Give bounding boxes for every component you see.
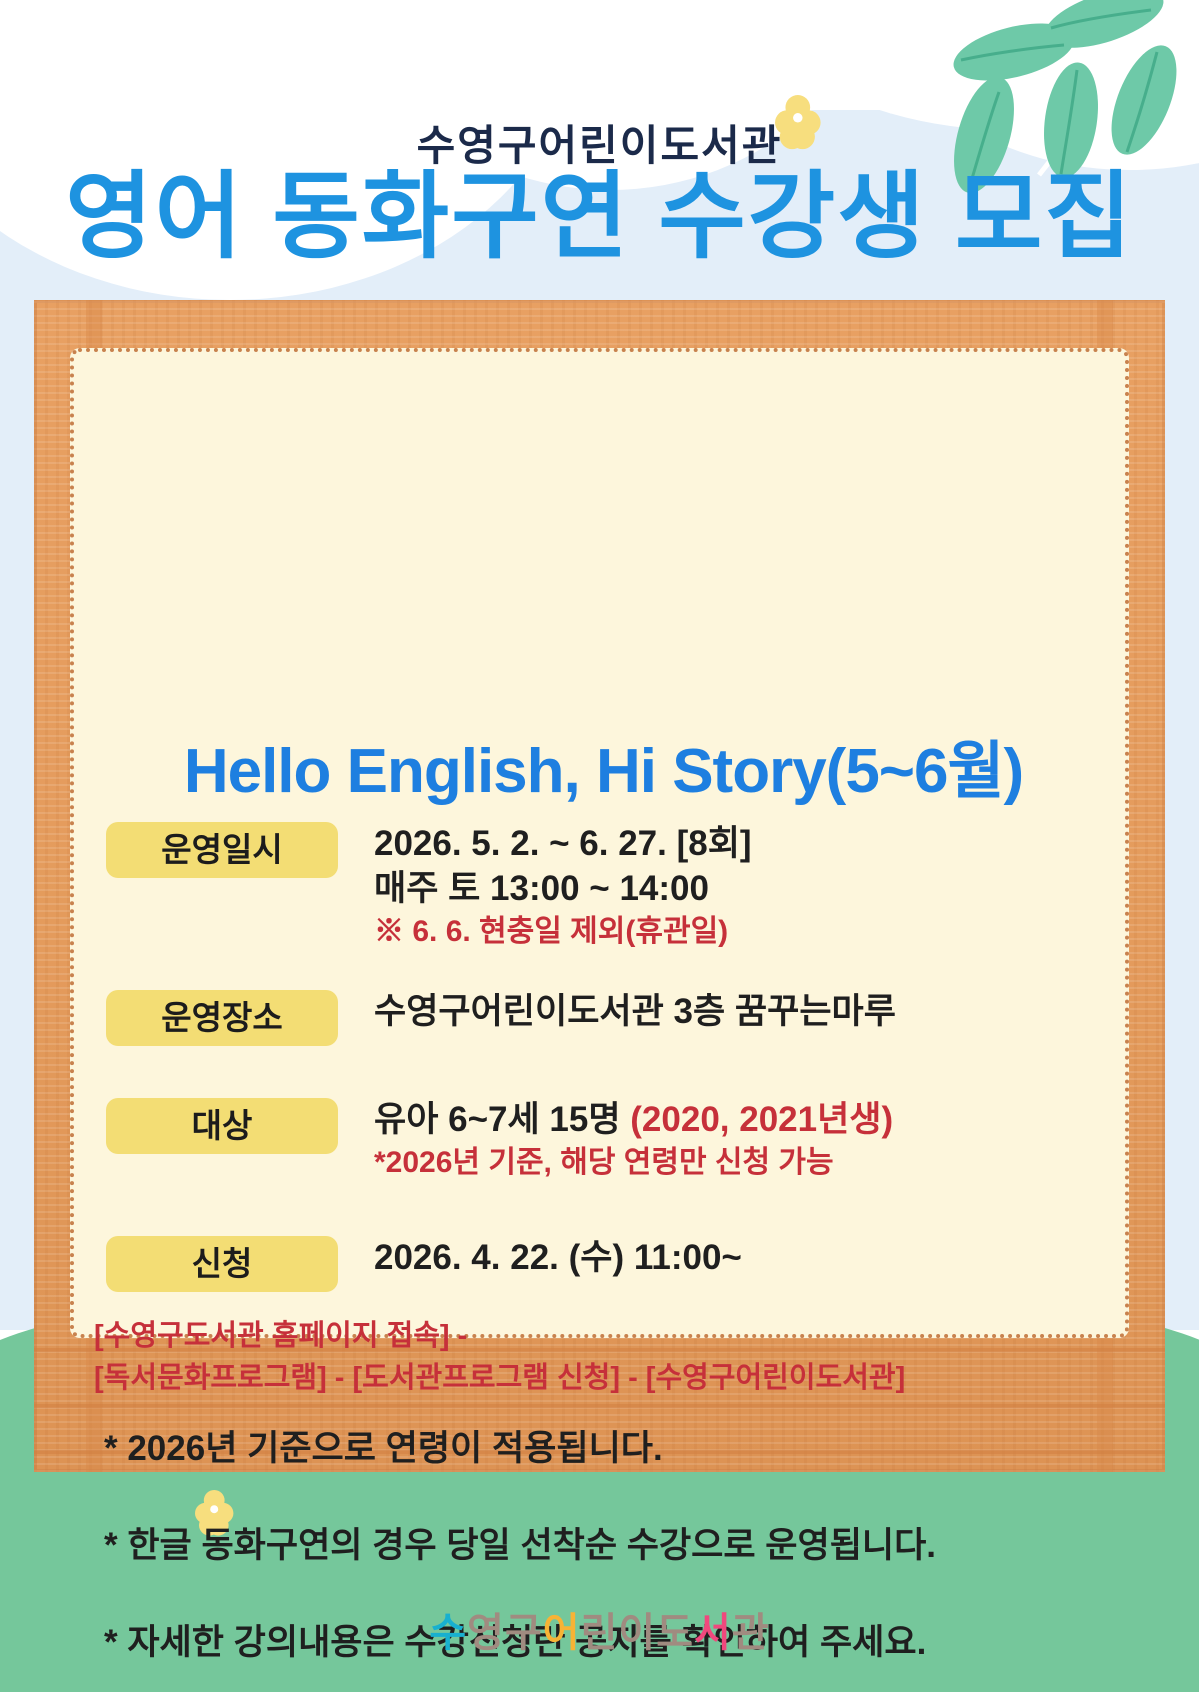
value-cell: 유아 6~7세 15명 (2020, 2021년생) *2026년 기준, 해당… — [374, 1098, 1133, 1182]
badge-cell: 운영장소 — [74, 990, 374, 1046]
location-value: 수영구어린이도서관 3층 꿈꾸는마루 — [374, 990, 1133, 1035]
page-title: 영어 동화구연 수강생 모집 — [0, 168, 1199, 268]
badge-cell: 대상 — [74, 1098, 374, 1154]
value-cell: 수영구어린이도서관 3층 꿈꾸는마루 — [374, 990, 1133, 1035]
info-label-target: 대상 — [106, 1098, 338, 1154]
logo-part: 영구 — [467, 1611, 543, 1655]
content-board: Hello English, Hi Story(5~6월) 운영일시 2026.… — [70, 348, 1129, 1338]
info-row-location: 운영장소 수영구어린이도서관 3층 꿈꾸는마루 — [74, 990, 1133, 1098]
poster-canvas: 수영구어린이도서관 영어 동화구연 수강생 모집 Hello English, … — [0, 0, 1199, 1692]
info-label-schedule: 운영일시 — [106, 822, 338, 878]
schedule-exception-note: ※ 6. 6. 현충일 제외(휴관일) — [374, 912, 1133, 951]
target-age-note: *2026년 기준, 해당 연령만 신청 가능 — [374, 1143, 1133, 1182]
info-row-schedule: 운영일시 2026. 5. 2. ~ 6. 27. [8회] 매주 토 13:0… — [74, 822, 1133, 990]
logo-part: 서 — [694, 1611, 732, 1655]
info-label-location: 운영장소 — [106, 990, 338, 1046]
info-label-application: 신청 — [106, 1236, 338, 1292]
note-item: * 2026년 기준으로 연령이 적용됩니다. — [104, 1420, 1114, 1471]
badge-cell: 운영일시 — [74, 822, 374, 878]
schedule-date: 2026. 5. 2. ~ 6. 27. [8회] — [374, 822, 1133, 867]
target-value: 유아 6~7세 15명 (2020, 2021년생) — [374, 1098, 1133, 1143]
logo-part: 수 — [429, 1611, 467, 1655]
info-row-application: 신청 2026. 4. 22. (수) 11:00~ — [74, 1236, 1133, 1312]
target-value-plain: 유아 6~7세 15명 — [374, 1100, 630, 1139]
value-cell: 2026. 5. 2. ~ 6. 27. [8회] 매주 토 13:00 ~ 1… — [374, 822, 1133, 951]
application-open-datetime: 2026. 4. 22. (수) 11:00~ — [374, 1236, 1133, 1281]
application-path-line1: [수영구도서관 홈페이지 접속] - — [94, 1315, 1124, 1357]
schedule-time: 매주 토 13:00 ~ 14:00 — [374, 867, 1133, 912]
application-path: [수영구도서관 홈페이지 접속] - [독서문화프로그램] - [도서관프로그램… — [94, 1315, 1124, 1399]
logo-part: 관 — [732, 1611, 770, 1655]
program-title: Hello English, Hi Story(5~6월) — [74, 720, 1133, 810]
badge-cell: 신청 — [74, 1236, 374, 1292]
note-item: * 한글 동화구연의 경우 당일 선착순 수강으로 운영됩니다. — [104, 1517, 1114, 1568]
info-table: 운영일시 2026. 5. 2. ~ 6. 27. [8회] 매주 토 13:0… — [74, 822, 1133, 1312]
logo-part: 린이도 — [581, 1611, 694, 1655]
value-cell: 2026. 4. 22. (수) 11:00~ — [374, 1236, 1133, 1281]
application-path-line2: [독서문화프로그램] - [도서관프로그램 신청] - [수영구어린이도서관] — [94, 1357, 1124, 1399]
frame-plank-line — [34, 1404, 1165, 1408]
info-row-target: 대상 유아 6~7세 15명 (2020, 2021년생) *2026년 기준,… — [74, 1098, 1133, 1236]
target-value-birthyears: (2020, 2021년생) — [630, 1100, 893, 1139]
logo-part: 어 — [543, 1611, 581, 1655]
footer-library-logo: 수영구어린이도서관 — [0, 1600, 1199, 1658]
